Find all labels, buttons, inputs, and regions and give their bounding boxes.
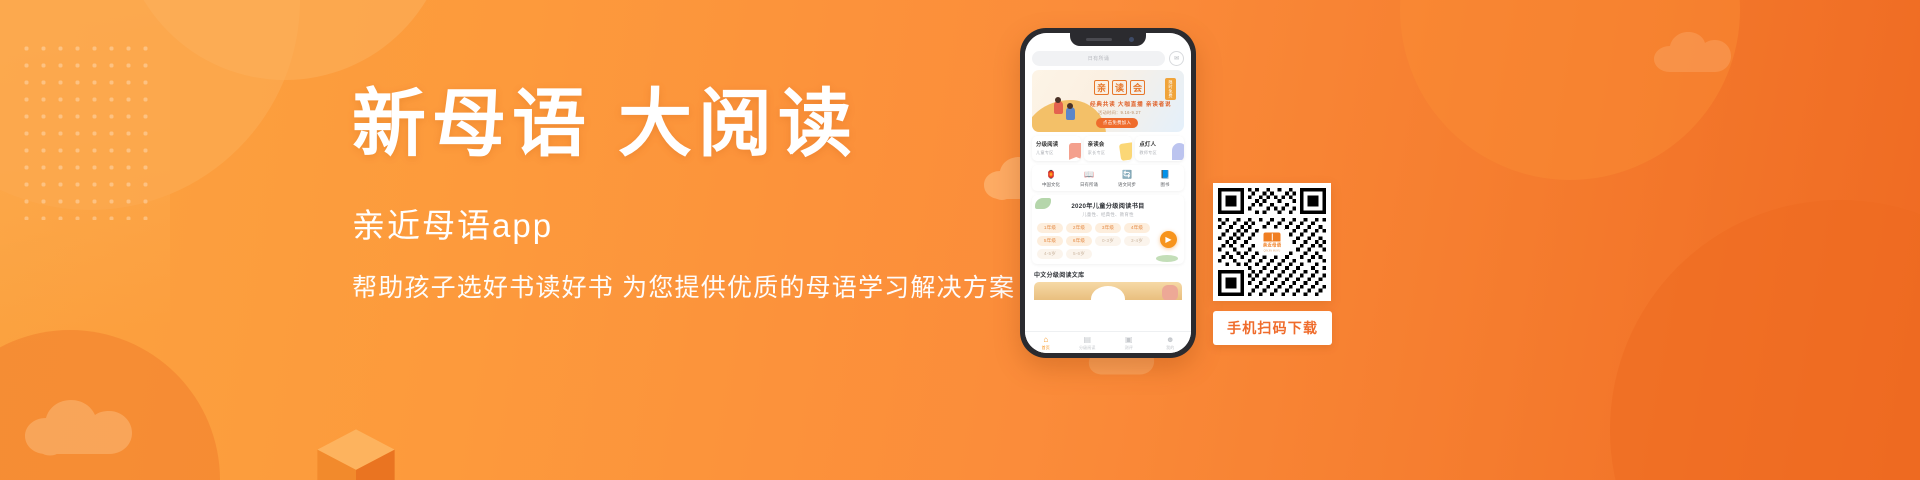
quick-icon-row: 🏮 中国文化 📖 日有所诵 🔄 语文同步 📘 图书 <box>1032 165 1184 191</box>
qr-center-logo: 亲近母语 QINJIN MUYU <box>1259 229 1286 256</box>
decorative-circle-bottom-right <box>1610 200 1920 480</box>
qr-code[interactable]: 亲近母语 QINJIN MUYU <box>1213 183 1331 301</box>
logo-title: 亲近母语 <box>1263 242 1281 248</box>
home-icon: ⌂ <box>1043 336 1048 344</box>
cloud-motif-icon <box>1650 30 1760 85</box>
grade-chip[interactable]: 1年级 <box>1037 223 1063 233</box>
tab-label: 首页 <box>1042 345 1050 351</box>
quick-icon-books[interactable]: 📘 图书 <box>1146 169 1184 188</box>
hero-banner[interactable]: 亲 读 会 限时免费 经典共读 大咖直播 亲读者说 活动时间：9.16-9.27… <box>1032 70 1184 132</box>
quick-icon-label: 语文同步 <box>1118 182 1136 188</box>
category-card-teacher[interactable]: 点灯人 教师专区 <box>1135 136 1184 161</box>
quick-icon-daily-recite[interactable]: 📖 日有所诵 <box>1070 169 1108 188</box>
headline-part-1: 新母语 <box>352 84 592 166</box>
banner-copy: 新母语大阅读 亲近母语app 帮助孩子选好书读好书 为您提供优质的母语学习解决方… <box>352 88 1012 304</box>
age-chip[interactable]: 3-4岁 <box>1124 236 1150 246</box>
user-icon: ☻ <box>1166 336 1174 344</box>
decorative-circle-top-left <box>0 0 300 210</box>
app-screen: 日有所诵 ✉ 亲 读 会 限时免费 经典共读 大咖直播 亲读者说 活动时间 <box>1025 33 1191 353</box>
lamp-icon <box>1172 143 1184 160</box>
tab-graded-reading[interactable]: ▤ 分级阅读 <box>1067 336 1109 351</box>
decorative-circle-top-right <box>1400 0 1740 180</box>
category-card-graded-reading[interactable]: 分级阅读 儿童专区 <box>1032 136 1081 161</box>
books-icon: 📘 <box>1160 169 1171 180</box>
hero-title-char: 读 <box>1112 80 1127 95</box>
search-row: 日有所诵 ✉ <box>1032 51 1184 66</box>
age-chip[interactable]: 4-5岁 <box>1037 249 1063 259</box>
search-input[interactable]: 日有所诵 <box>1032 51 1165 66</box>
headline-part-2: 大阅读 <box>618 84 858 166</box>
tab-label: 分级阅读 <box>1079 345 1095 351</box>
age-chip[interactable]: 0-3岁 <box>1095 236 1121 246</box>
hero-date: 活动时间：9.16-9.27 <box>1098 110 1141 116</box>
library-section: 中文分级阅读文库 <box>1032 268 1184 300</box>
hero-title: 亲 读 会 <box>1094 80 1145 95</box>
grade-chip[interactable]: 6年级 <box>1066 236 1092 246</box>
promo-banner: 新母语大阅读 亲近母语app 帮助孩子选好书读好书 为您提供优质的母语学习解决方… <box>0 0 1920 480</box>
hero-child-illustration <box>1066 107 1075 120</box>
page-icon <box>1119 142 1132 161</box>
category-card-parent-club[interactable]: 亲读会 家长专区 <box>1084 136 1133 161</box>
library-title: 中文分级阅读文库 <box>1034 270 1182 279</box>
hero-title-char: 会 <box>1130 80 1145 95</box>
bookmark-icon <box>1069 143 1081 160</box>
decorative-circle-top-left-2 <box>120 0 450 80</box>
bottom-tab-bar: ⌂ 首页 ▤ 分级阅读 ▣ 测评 ☻ 我的 <box>1025 331 1191 353</box>
cloud-motif-icon <box>20 398 170 468</box>
qr-download-block: 亲近母语 QINJIN MUYU 手机扫码下载 <box>1213 183 1331 345</box>
tab-label: 我的 <box>1166 345 1174 351</box>
book-logo-icon <box>1264 232 1281 241</box>
decorative-circle-bottom-left <box>0 330 220 480</box>
sync-icon: 🔄 <box>1122 169 1133 180</box>
booklist-panel: 2020年儿童分级阅读书目 儿童性、经典性、教育性 1年级 2年级 3年级 4年… <box>1032 195 1184 264</box>
phone-mockup: 日有所诵 ✉ 亲 读 会 限时免费 经典共读 大咖直播 亲读者说 活动时间 <box>1020 28 1196 358</box>
speaker-grill <box>1086 38 1112 41</box>
grade-chip[interactable]: 2年级 <box>1066 223 1092 233</box>
hero-cta-button[interactable]: 点击免费加入 <box>1096 118 1138 128</box>
search-placeholder: 日有所诵 <box>1088 55 1110 62</box>
clipboard-icon: ▣ <box>1125 336 1133 344</box>
grade-chip[interactable]: 3年级 <box>1095 223 1121 233</box>
phone-screen-frame: 日有所诵 ✉ 亲 读 会 限时免费 经典共读 大咖直播 亲读者说 活动时间 <box>1025 33 1191 353</box>
front-camera-icon <box>1129 37 1134 42</box>
green-hill-decoration <box>1156 255 1178 262</box>
play-video-icon[interactable]: ▶ <box>1160 231 1177 248</box>
booklist-title: 2020年儿童分级阅读书目 <box>1037 201 1179 210</box>
tab-home[interactable]: ⌂ 首页 <box>1025 336 1067 351</box>
left-light-wedge <box>0 0 170 480</box>
banner-tagline: 帮助孩子选好书读好书 为您提供优质的母语学习解决方案 <box>352 272 1012 305</box>
book-open-icon: 📖 <box>1084 169 1095 180</box>
reading-icon: ▤ <box>1083 336 1091 344</box>
age-chip[interactable]: 5-6岁 <box>1066 249 1092 259</box>
grade-chip-group: 1年级 2年级 3年级 4年级 5年级 6年级 0-3岁 3-4岁 4-5岁 5… <box>1037 223 1155 259</box>
quick-icon-textbook-sync[interactable]: 🔄 语文同步 <box>1108 169 1146 188</box>
page-title: 新母语大阅读 <box>352 88 1012 162</box>
booklist-subtitle: 儿童性、经典性、教育性 <box>1037 212 1179 218</box>
hero-title-char: 亲 <box>1094 80 1109 95</box>
quick-icon-label: 中国文化 <box>1042 182 1060 188</box>
dot-grid-pattern <box>18 40 148 220</box>
tab-label: 测评 <box>1125 345 1133 351</box>
quick-icon-label: 日有所诵 <box>1080 182 1098 188</box>
hero-subtitle: 经典共读 大咖直播 亲读者说 <box>1090 100 1171 108</box>
hero-ribbon-badge: 限时免费 <box>1165 78 1176 100</box>
quick-icon-label: 图书 <box>1161 182 1170 188</box>
hero-child-illustration <box>1054 101 1063 114</box>
grade-chip[interactable]: 5年级 <box>1037 236 1063 246</box>
tab-profile[interactable]: ☻ 我的 <box>1150 336 1192 351</box>
download-button[interactable]: 手机扫码下载 <box>1213 311 1332 345</box>
logo-subtitle: QINJIN MUYU <box>1264 249 1281 252</box>
phone-notch <box>1070 33 1146 46</box>
grade-chip[interactable]: 4年级 <box>1124 223 1150 233</box>
library-cover-card[interactable] <box>1034 282 1182 300</box>
tab-assessment[interactable]: ▣ 测评 <box>1108 336 1150 351</box>
lantern-icon: 🏮 <box>1046 169 1057 180</box>
category-cards: 分级阅读 儿童专区 亲读会 家长专区 点灯人 教师专区 <box>1032 136 1184 161</box>
app-name-subtitle: 亲近母语app <box>352 206 1012 246</box>
quick-icon-chinese-culture[interactable]: 🏮 中国文化 <box>1032 169 1070 188</box>
message-icon[interactable]: ✉ <box>1169 51 1184 66</box>
decorative-cube <box>310 422 402 480</box>
